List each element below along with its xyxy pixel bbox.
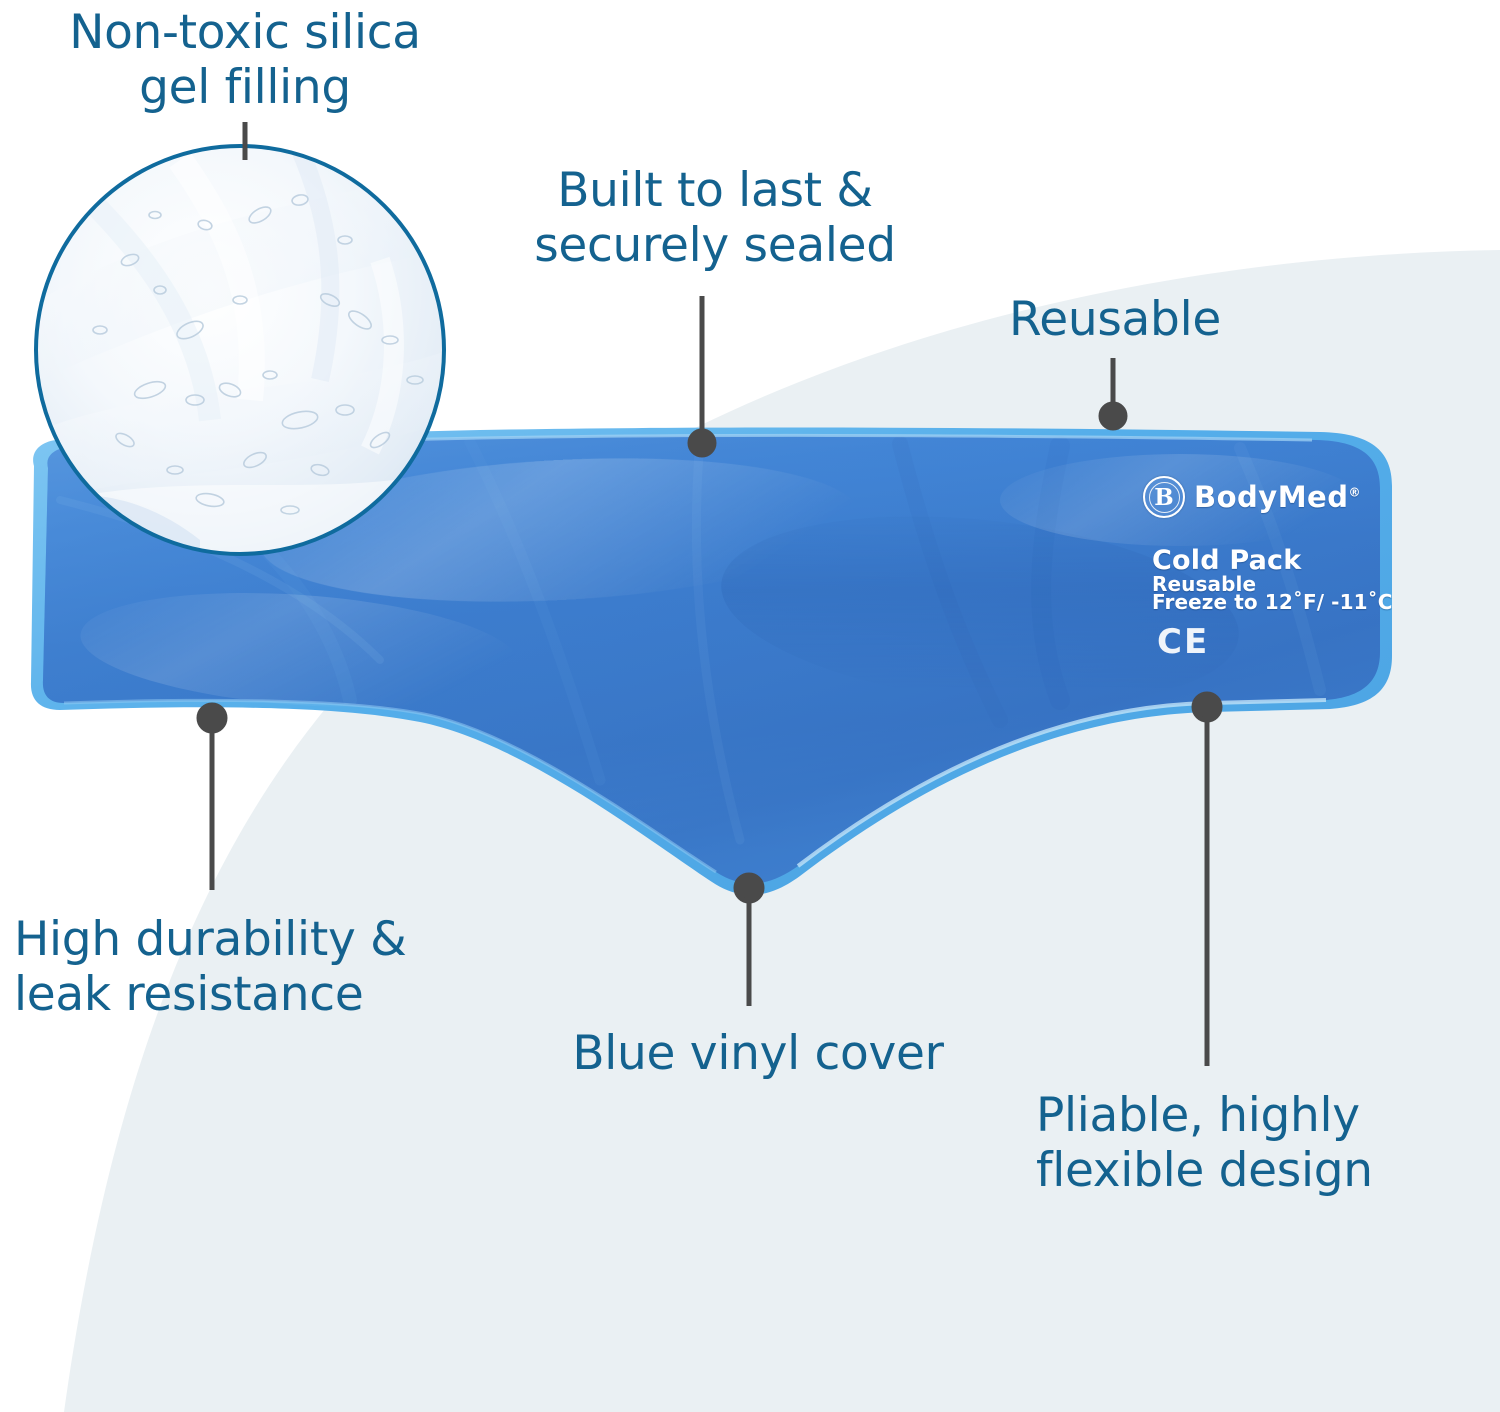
infographic-canvas: B BodyMed® Cold Pack Reusable Freeze to … [0,0,1500,1412]
ce-mark-icon: CE [1157,622,1209,662]
bodymed-emblem-letter: B [1154,486,1173,509]
leader-dot-built-to-last [690,431,714,455]
leader-dot-pliable [1194,694,1220,720]
leader-dot-durability [199,705,225,731]
bodymed-emblem-icon: B [1143,476,1185,518]
leader-dot-vinyl-cover [736,875,762,901]
leader-dot-reusable [1101,404,1125,428]
bodymed-logo: B BodyMed® [1143,476,1361,518]
callout-pliable-highly-flexible-design: Pliable, highly flexible design [1036,1088,1373,1199]
callout-non-toxic-silica-gel-filling: Non-toxic silica gel filling [69,5,421,116]
callout-high-durability-leak-resistance: High durability & leak resistance [14,912,406,1023]
bodymed-wordmark-text: BodyMed [1194,480,1348,514]
pack-label-freeze-temp: Freeze to 12˚F/ -11˚C [1152,590,1392,614]
callout-reusable: Reusable [1009,292,1221,347]
bodymed-wordmark: BodyMed® [1194,480,1361,514]
callout-blue-vinyl-cover: Blue vinyl cover [572,1026,943,1081]
callout-built-to-last-securely-sealed: Built to last & securely sealed [534,163,896,274]
registered-trademark-icon: ® [1348,485,1361,499]
